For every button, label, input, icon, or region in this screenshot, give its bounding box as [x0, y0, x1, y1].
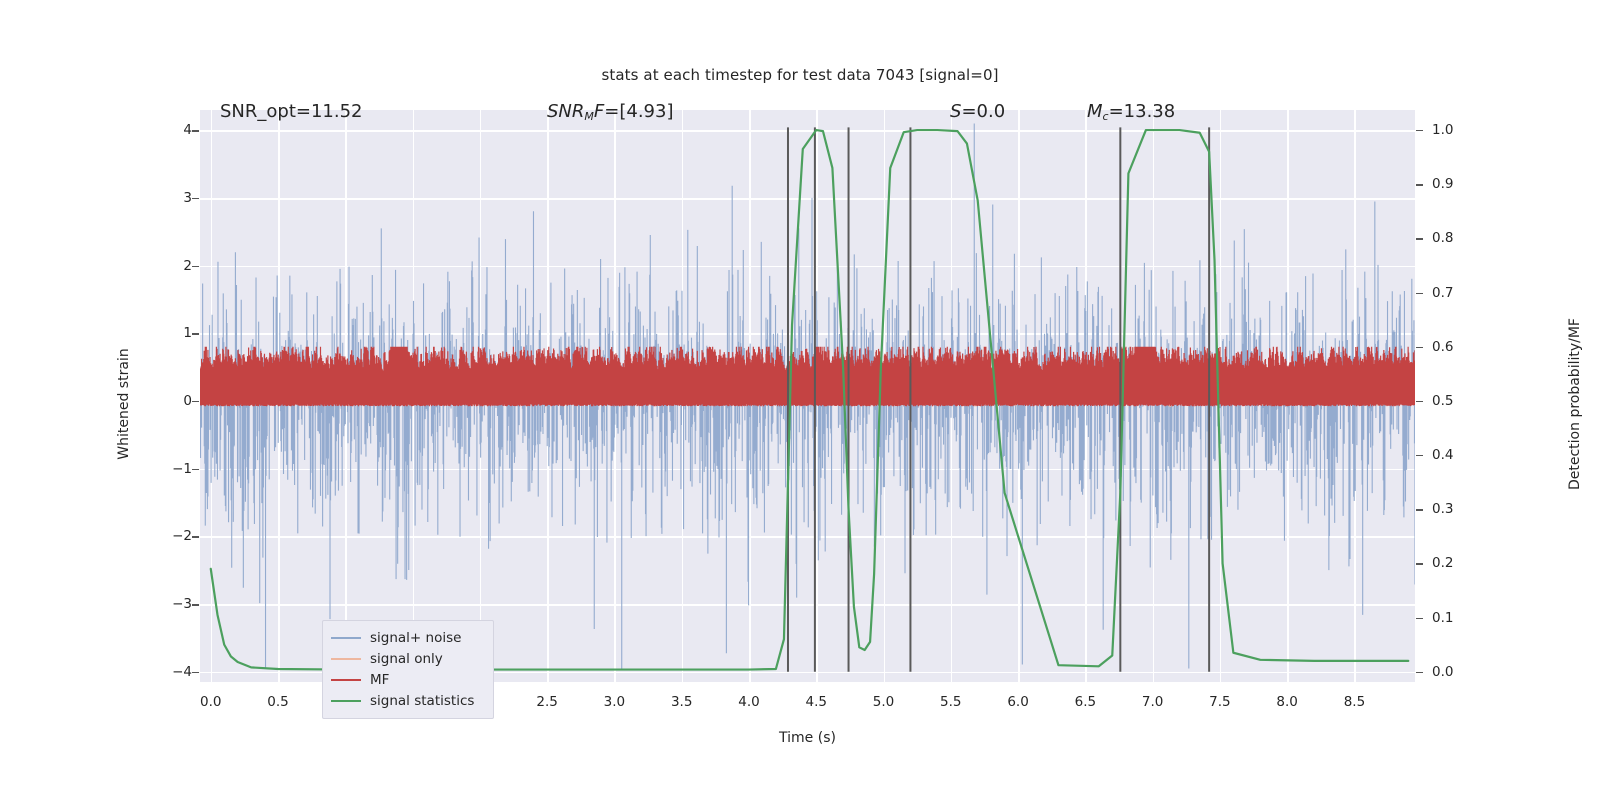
y-axis-left-tick-mark	[192, 469, 199, 470]
y-axis-left-tick-mark	[192, 266, 199, 267]
y-axis-left-tick-mark	[192, 198, 199, 199]
x-axis-label: Time (s)	[200, 730, 1415, 746]
y-axis-left-tick-label: −2	[172, 528, 192, 544]
annotation-snr-mf: SNRMF=[4.93]	[547, 101, 673, 123]
annotation-snr-opt: SNR_opt=11.52	[220, 101, 363, 122]
figure-root: stats at each timestep for test data 704…	[0, 0, 1600, 800]
y-axis-right-tick-mark	[1416, 672, 1423, 673]
y-axis-right-tick-mark	[1416, 238, 1423, 239]
legend-swatch-icon	[331, 700, 361, 702]
y-axis-right-tick-mark	[1416, 455, 1423, 456]
x-axis-tick-label: 7.0	[1142, 694, 1163, 710]
x-axis-tick-label: 3.5	[671, 694, 692, 710]
y-axis-right-tick-mark	[1416, 184, 1423, 185]
y-axis-right-tick-label: 0.7	[1432, 285, 1453, 301]
annotation-s-stat: S=0.0	[950, 101, 1005, 122]
y-axis-right-tick-label: 0.9	[1432, 176, 1453, 192]
y-axis-left-label: Whitened strain	[116, 274, 132, 534]
y-axis-left-tick-mark	[192, 401, 199, 402]
legend-swatch-icon	[331, 658, 361, 660]
y-axis-right-tick-mark	[1416, 347, 1423, 348]
y-axis-right-tick-label: 0.5	[1432, 393, 1453, 409]
y-axis-right-tick-mark	[1416, 509, 1423, 510]
x-axis-tick-label: 8.0	[1276, 694, 1297, 710]
legend: signal+ noisesignal onlyMFsignal statist…	[322, 620, 494, 719]
y-axis-left-tick-mark	[192, 672, 199, 673]
x-axis-tick-label: 5.0	[873, 694, 894, 710]
series-canvas	[200, 110, 1415, 682]
legend-item-1[interactable]: signal only	[331, 648, 485, 669]
y-axis-left-tick-label: −3	[172, 596, 192, 612]
x-axis-tick-label: 5.5	[940, 694, 961, 710]
x-axis-tick-label: 6.5	[1075, 694, 1096, 710]
y-axis-right-tick-mark	[1416, 563, 1423, 564]
y-axis-right-tick-label: 1.0	[1432, 122, 1453, 138]
x-axis-tick-label: 2.5	[536, 694, 557, 710]
y-axis-right-tick-mark	[1416, 293, 1423, 294]
y-axis-right-tick-mark	[1416, 618, 1423, 619]
annotation-chirp-mass: Mc=13.38	[1087, 101, 1175, 123]
y-axis-left-tick-label: 3	[183, 190, 192, 206]
data-layer	[200, 110, 1415, 682]
x-axis-tick-label: 7.5	[1209, 694, 1230, 710]
legend-swatch-icon	[331, 637, 361, 639]
y-axis-right-tick-label: 0.1	[1432, 610, 1453, 626]
legend-label: signal only	[370, 651, 443, 667]
y-axis-right-tick-label: 0.2	[1432, 555, 1453, 571]
x-axis-tick-label: 0.5	[267, 694, 288, 710]
y-axis-left-tick-mark	[192, 130, 199, 131]
legend-item-2[interactable]: MF	[331, 669, 485, 690]
y-axis-right-tick-label: 0.8	[1432, 230, 1453, 246]
y-axis-right-tick-label: 0.6	[1432, 339, 1453, 355]
x-axis-tick-label: 3.0	[604, 694, 625, 710]
x-axis-tick-label: 6.0	[1007, 694, 1028, 710]
x-axis-tick-label: 4.5	[805, 694, 826, 710]
x-axis-tick-label: 8.5	[1344, 694, 1365, 710]
y-axis-left-tick-mark	[192, 333, 199, 334]
y-axis-left-tick-label: 1	[183, 325, 192, 341]
y-axis-right-label: Detection probability/MF	[1567, 254, 1583, 554]
legend-label: MF	[370, 672, 389, 688]
plot-area	[200, 110, 1415, 682]
y-axis-left-tick-mark	[192, 536, 199, 537]
y-axis-right-tick-mark	[1416, 401, 1423, 402]
y-axis-left-tick-mark	[192, 604, 199, 605]
y-axis-right-tick-label: 0.3	[1432, 501, 1453, 517]
y-axis-left-tick-label: 4	[183, 122, 192, 138]
x-axis-tick-label: 0.0	[200, 694, 221, 710]
y-axis-right-tick-label: 0.0	[1432, 664, 1453, 680]
legend-item-0[interactable]: signal+ noise	[331, 627, 485, 648]
y-axis-right-tick-label: 0.4	[1432, 447, 1453, 463]
legend-item-3[interactable]: signal statistics	[331, 690, 485, 711]
legend-label: signal statistics	[370, 693, 474, 709]
y-axis-left-tick-label: 2	[183, 258, 192, 274]
legend-swatch-icon	[331, 679, 361, 681]
y-axis-left-tick-label: 0	[183, 393, 192, 409]
x-axis-tick-label: 4.0	[738, 694, 759, 710]
y-axis-right-tick-mark	[1416, 130, 1423, 131]
legend-label: signal+ noise	[370, 630, 461, 646]
y-axis-left-tick-label: −4	[172, 664, 192, 680]
y-axis-left-tick-label: −1	[172, 461, 192, 477]
page-title: stats at each timestep for test data 704…	[0, 66, 1600, 84]
